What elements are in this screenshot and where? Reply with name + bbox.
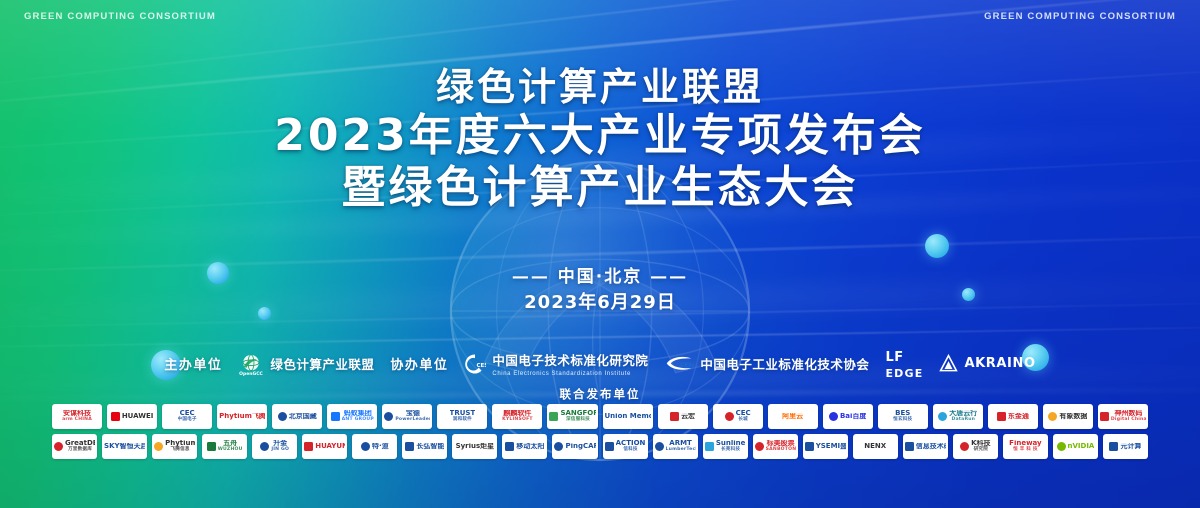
sponsor-logo-name: 东金通 [1008, 413, 1029, 420]
sponsor-logo-mark-icon [960, 442, 969, 451]
sponsor-logo-name: Phytium飞腾 [219, 413, 265, 420]
sponsor-logo-subtitle: JIN GO [271, 448, 289, 453]
co-organizer-label: 协办单位 [390, 354, 448, 373]
sponsor-logo-subtitle: PowerLeader [395, 418, 430, 423]
sponsor-logo-inner: Union Memory [605, 413, 651, 420]
sponsor-logo-mark-icon [111, 412, 120, 421]
sponsor-logo-name: 云宏 [681, 413, 695, 420]
sponsor-logo[interactable]: 蚂蚁集团ANT GROUP [327, 404, 377, 429]
sponsor-logo-mark-icon [331, 412, 340, 421]
sponsor-logo-inner: NENX [864, 443, 886, 450]
sponsor-logo-inner: 特·道 [361, 442, 389, 451]
sponsor-logo-mark-icon [805, 442, 814, 451]
sponsor-logo-name: NENX [864, 443, 886, 450]
sponsor-logo[interactable]: HUAWEI [107, 404, 157, 429]
sponsor-logo-inner: 信息技术研究院 [905, 442, 946, 451]
sponsor-logo[interactable]: Union Memory [603, 404, 653, 429]
sponsor-logo-name: 北京国藏 [289, 413, 317, 420]
sponsor-logo[interactable]: 麒麟软件KYLINSOFT [492, 404, 542, 429]
sponsor-logo-inner: 麒麟软件KYLINSOFT [502, 410, 533, 422]
akraino-wordmark: AKRAINO [964, 356, 1035, 371]
sponsor-logo-mark-icon [1048, 412, 1057, 421]
sponsor-logo-mark-icon [829, 412, 838, 421]
sponsor-logo-inner: 五舟WUZHOU [207, 440, 243, 452]
sponsor-logo[interactable]: 云宏 [658, 404, 708, 429]
sponsor-logo-name: K科技研究院 [971, 440, 990, 452]
sponsor-logo-name: ARMTLumberTech [666, 440, 696, 452]
sponsor-logo-inner: Bai百度 [829, 412, 866, 421]
sponsor-logo-subtitle: 长城 [736, 418, 751, 423]
sponsor-logo[interactable]: SKY智恒天启 [102, 434, 147, 459]
sponsor-logo-inner: Syrius炬星 [456, 443, 495, 450]
sponsor-logo-inner: 有象数据 [1048, 412, 1087, 421]
sponsor-logo-name: 五舟WUZHOU [218, 440, 243, 452]
sponsor-logo-inner: GreatDB万里数据库 [54, 440, 95, 452]
sponsor-logo-inner: 神州数码Digital China [1100, 410, 1146, 422]
partner-lf-edge: LF EDGE [885, 348, 923, 380]
sponsor-logo-name: 信息技术研究院 [916, 443, 946, 450]
sponsor-logo[interactable]: Syrius炬星 [452, 434, 497, 459]
co-org-cesi: CESI 中国电子技术标准化研究院 China Electronics Stan… [464, 350, 648, 377]
akraino-triangle-icon [939, 354, 958, 373]
sponsor-logo-name: CEC中国电子 [178, 410, 197, 422]
sponsor-logo[interactable]: 元计算 [1103, 434, 1148, 459]
svg-text:CESI: CESI [477, 363, 487, 369]
opengcc-globe-icon: OpenGCC [238, 351, 264, 377]
sponsor-logo-subtitle: arm CHINA [62, 418, 92, 423]
lf-edge-line-1: LF [885, 350, 903, 365]
sponsor-logo-subtitle: 飞腾信息 [165, 448, 195, 453]
sponsor-logo-mark-icon [1057, 442, 1066, 451]
event-date: 2023年6月29日 [0, 288, 1200, 314]
conference-banner: GREEN COMPUTING CONSORTIUM GREEN COMPUTI… [0, 0, 1200, 508]
sponsor-logo-inner: Phytium飞腾 [219, 413, 265, 420]
sponsor-logo[interactable]: TRUST润和软件 [437, 404, 487, 429]
sponsor-logo[interactable]: 标美股票SANBOTONG [753, 434, 798, 459]
sponsor-logo-name: 元计算 [1120, 443, 1141, 450]
sponsor-logo-name: nVIDIA [1068, 443, 1095, 450]
sponsor-logo-row-1: 安谋科技arm CHINAHUAWEICEC中国电子Phytium飞腾北京国藏蚂… [0, 404, 1200, 429]
sponsor-logo-name: CEC长城 [736, 410, 751, 422]
sponsor-logo-subtitle: LumberTech [666, 448, 696, 453]
sponsor-logo-name: 特·道 [372, 443, 389, 450]
sponsor-logo-inner: ACTION信科技 [605, 440, 646, 452]
host-label: 主办单位 [164, 354, 222, 373]
sponsor-logo-name: 长弘智能 [416, 443, 444, 450]
sponsor-logo[interactable]: K科技研究院 [953, 434, 998, 459]
cesi-icon: CESI [464, 353, 486, 375]
sponsor-logo[interactable]: SANGFOR深信服科技 [547, 404, 597, 429]
sponsor-logo[interactable]: ARMTLumberTech [653, 434, 698, 459]
joint-release-label: 联合发布单位 [0, 386, 1200, 402]
sponsor-logo-subtitle: 润和软件 [450, 418, 476, 423]
sponsor-logo-name: 移动太阳 [516, 443, 544, 450]
sponsor-logo-name: SKY智恒天启 [104, 443, 145, 450]
sponsor-logo-inner: 元计算 [1109, 442, 1141, 451]
sponsor-logo-inner: 宝德PowerLeader [384, 410, 430, 422]
sponsor-logo-inner: 长弘智能 [405, 442, 444, 451]
sponsor-logo-row-2: GreatDB万里数据库SKY智恒天启PhytiumTech飞腾信息五舟WUZH… [0, 434, 1200, 459]
sponsor-logo-subtitle: KYLINSOFT [502, 418, 533, 423]
sponsor-logo-mark-icon [260, 442, 269, 451]
sponsor-logo[interactable]: YSEMI盛芯 [803, 434, 848, 459]
sponsor-logo[interactable]: CEC中国电子 [162, 404, 212, 429]
sponsor-logo-name: 蚂蚁集团ANT GROUP [342, 410, 374, 422]
sponsor-logo[interactable]: 阿里云 [768, 404, 818, 429]
sponsor-logo[interactable]: 有象数据 [1043, 404, 1093, 429]
sponsor-logo-name: 麒麟软件KYLINSOFT [502, 410, 533, 422]
sponsor-logo-inner: HUAYUN华云 [304, 442, 345, 451]
sponsor-logo[interactable]: 安谋科技arm CHINA [52, 404, 102, 429]
sponsor-logo-mark-icon [278, 412, 287, 421]
sponsor-logo[interactable]: NENX [853, 434, 898, 459]
sponsor-logo-inner: ARMTLumberTech [655, 440, 696, 452]
sponsor-logo-mark-icon [405, 442, 414, 451]
sponsor-logo-name: Union Memory [605, 413, 651, 420]
sponsor-logo-subtitle: WUZHOU [218, 448, 243, 453]
title-line-2: 2023年度六大产业专项发布会 [0, 111, 1200, 161]
sponsor-logo-subtitle: 信科技 [616, 448, 646, 453]
sponsor-logo[interactable]: HUAYUN华云 [302, 434, 347, 459]
sponsor-logo-subtitle: Digital China [1111, 418, 1146, 423]
sponsor-logo-inner: 东金通 [997, 412, 1029, 421]
sponsor-logo[interactable]: PhytiumTech飞腾信息 [152, 434, 197, 459]
sponsor-logo[interactable]: GreatDB万里数据库 [52, 434, 97, 459]
sponsor-logo-mark-icon [905, 442, 914, 451]
sponsor-logo-name: Syrius炬星 [456, 443, 495, 450]
sponsor-logo-mark-icon [605, 442, 614, 451]
sponsor-logo-mark-icon [154, 442, 163, 451]
sponsor-logo-inner: 安谋科技arm CHINA [62, 410, 92, 422]
sponsor-logo[interactable]: Bai百度 [823, 404, 873, 429]
host-name: 绿色计算产业联盟 [270, 354, 374, 373]
sponsor-logo-name: SANGFOR深信服科技 [560, 410, 595, 422]
sponsor-logo-inner: 升金JIN GO [260, 440, 289, 452]
sponsor-logo-subtitle: 中国电子 [178, 418, 197, 423]
sponsor-logo-mark-icon [54, 442, 63, 451]
sponsor-logo-name: 标美股票SANBOTONG [766, 440, 796, 452]
sponsor-logo-inner: Sunline长亮科技 [705, 440, 746, 452]
sponsor-logo[interactable]: Sunline长亮科技 [703, 434, 748, 459]
sponsor-logo[interactable]: Phytium飞腾 [217, 404, 267, 429]
sponsor-logo-inner: HUAWEI [111, 412, 154, 421]
sponsor-logo-name: Bai百度 [840, 413, 866, 420]
cesi-name-cn: 中国电子技术标准化研究院 [492, 353, 648, 368]
lf-edge-line-2: EDGE [885, 367, 923, 380]
sponsor-logo-mark-icon [1100, 412, 1109, 421]
sponsor-logo-mark-icon [938, 412, 947, 421]
sponsor-logo-inner: 标美股票SANBOTONG [755, 440, 796, 452]
co-org-cesa: CESA 中国电子工业标准化技术协会 [664, 354, 869, 374]
sponsor-logo-name: BES恒玄科技 [893, 410, 912, 422]
sponsor-logo-subtitle: 万里数据库 [65, 448, 95, 453]
sponsor-logo-name: ACTION信科技 [616, 440, 646, 452]
sponsor-logo-inner: SKY智恒天启 [104, 443, 145, 450]
sponsor-logo-mark-icon [549, 412, 558, 421]
sponsor-logo-subtitle: 研究院 [971, 448, 990, 453]
sponsor-logo-name: GreatDB万里数据库 [65, 440, 95, 452]
sponsor-logo-mark-icon [997, 412, 1006, 421]
sponsor-logo-name: YSEMI盛芯 [816, 443, 846, 450]
sponsor-logo-inner: TRUST润和软件 [450, 410, 476, 422]
sponsor-logo[interactable]: 特·道 [352, 434, 397, 459]
sponsor-logo-name: HUAWEI [122, 413, 154, 420]
sponsor-logo[interactable]: PingCAP [552, 434, 597, 459]
sponsor-logo[interactable]: Fineway恒 丰 科 技 [1003, 434, 1048, 459]
sponsor-logo-name: Fineway恒 丰 科 技 [1009, 440, 1041, 452]
sponsor-logo[interactable]: 东金通 [988, 404, 1038, 429]
sponsor-logo-name: 宝德PowerLeader [395, 410, 430, 422]
sponsor-logo-inner: SANGFOR深信服科技 [549, 410, 595, 422]
sponsor-logo[interactable]: 神州数码Digital China [1098, 404, 1148, 429]
sponsor-logo-subtitle: 恒玄科技 [893, 418, 912, 423]
sponsor-logo[interactable]: ACTION信科技 [603, 434, 648, 459]
sponsor-logo-inner: Fineway恒 丰 科 技 [1009, 440, 1041, 452]
sponsor-logo-name: Sunline长亮科技 [716, 440, 746, 452]
sponsor-logo-mark-icon [361, 442, 370, 451]
organizers-row: 主办单位 OpenGCC 绿色计算产业联盟 协办单位 CESI [0, 348, 1200, 380]
sponsor-logo-inner: 移动太阳 [505, 442, 544, 451]
sponsor-logo-inner: BES恒玄科技 [893, 410, 912, 422]
partner-akraino: AKRAINO [939, 354, 1035, 373]
sponsor-logo-mark-icon [207, 442, 216, 451]
svg-text:CESA: CESA [681, 363, 695, 369]
lf-edge-wordmark: LF EDGE [885, 348, 923, 380]
sponsor-logo-name: TRUST润和软件 [450, 410, 476, 422]
sponsor-logo-mark-icon [554, 442, 563, 451]
host-org: OpenGCC 绿色计算产业联盟 [238, 351, 374, 377]
sponsor-logo-name: PingCAP [565, 443, 595, 450]
sponsor-logo[interactable]: 北京国藏 [272, 404, 322, 429]
sponsor-logo-mark-icon [705, 442, 714, 451]
sponsor-logo-inner: CEC中国电子 [178, 410, 197, 422]
sponsor-logo-inner: K科技研究院 [960, 440, 990, 452]
cesi-name-en: China Electronics Standardization Instit… [492, 371, 648, 377]
sponsor-logo-inner: 蚂蚁集团ANT GROUP [331, 410, 374, 422]
sponsor-logo-name: PhytiumTech飞腾信息 [165, 440, 195, 452]
sponsor-logo-subtitle: ANT GROUP [342, 418, 374, 423]
cesi-text: 中国电子技术标准化研究院 China Electronics Standardi… [492, 350, 648, 377]
sponsor-logo-mark-icon [725, 412, 734, 421]
title-line-1: 绿色计算产业联盟 [0, 66, 1200, 109]
sponsor-logo-mark-icon [1109, 442, 1118, 451]
sponsor-logo-name: 有象数据 [1059, 413, 1087, 420]
sponsor-logo-subtitle: SANBOTONG [766, 448, 796, 453]
sponsor-logo-name: HUAYUN华云 [315, 443, 345, 450]
sponsor-logo[interactable]: 宝德PowerLeader [382, 404, 432, 429]
sponsor-logo-subtitle: 深信服科技 [560, 418, 595, 423]
sponsor-logo[interactable]: nVIDIA [1053, 434, 1098, 459]
sponsor-logo-inner: PhytiumTech飞腾信息 [154, 440, 195, 452]
sponsor-logo-mark-icon [655, 442, 664, 451]
sponsor-logo-inner: nVIDIA [1057, 442, 1095, 451]
title-line-3: 暨绿色计算产业生态大会 [0, 163, 1200, 213]
corner-label-right: GREEN COMPUTING CONSORTIUM [984, 11, 1176, 22]
sponsor-logo[interactable]: 大唐云行DataRun [933, 404, 983, 429]
sponsor-logo-mark-icon [384, 412, 393, 421]
svg-text:OpenGCC: OpenGCC [239, 371, 263, 377]
sponsor-logo[interactable]: 五舟WUZHOU [202, 434, 247, 459]
sponsor-logo[interactable]: CEC长城 [713, 404, 763, 429]
sponsor-logo[interactable]: BES恒玄科技 [878, 404, 928, 429]
sponsor-logo-name: 神州数码Digital China [1111, 410, 1146, 422]
sponsor-logo-name: 阿里云 [782, 413, 803, 420]
sponsor-logo-inner: 大唐云行DataRun [938, 410, 977, 422]
corner-label-left: GREEN COMPUTING CONSORTIUM [24, 11, 216, 22]
cesa-icon: CESA [664, 354, 694, 374]
sponsor-logo-name: 大唐云行DataRun [949, 410, 977, 422]
sponsor-logo-grid: 安谋科技arm CHINAHUAWEICEC中国电子Phytium飞腾北京国藏蚂… [0, 404, 1200, 464]
sponsor-logo-subtitle: DataRun [949, 418, 977, 423]
sponsor-logo[interactable]: 移动太阳 [502, 434, 547, 459]
decor-bubble [925, 234, 949, 258]
sponsor-logo-mark-icon [670, 412, 679, 421]
sponsor-logo[interactable]: 长弘智能 [402, 434, 447, 459]
title-block: 绿色计算产业联盟 2023年度六大产业专项发布会 暨绿色计算产业生态大会 [0, 66, 1200, 214]
sponsor-logo-inner: 北京国藏 [278, 412, 317, 421]
sponsor-logo-mark-icon [755, 442, 764, 451]
sponsor-logo-inner: CEC长城 [725, 410, 751, 422]
event-location: —— 中国·北京 —— [0, 262, 1200, 287]
sponsor-logo-name: 安谋科技arm CHINA [62, 410, 92, 422]
sponsor-logo-inner: YSEMI盛芯 [805, 442, 846, 451]
sponsor-logo-name: 升金JIN GO [271, 440, 289, 452]
sponsor-logo-subtitle: 恒 丰 科 技 [1009, 448, 1041, 453]
sponsor-logo-subtitle: 长亮科技 [716, 448, 746, 453]
sponsor-logo-mark-icon [304, 442, 313, 451]
sponsor-logo-mark-icon [505, 442, 514, 451]
light-streak [0, 324, 1200, 351]
sponsor-logo-inner: PingCAP [554, 442, 595, 451]
sponsor-logo[interactable]: 信息技术研究院 [903, 434, 948, 459]
cesa-name-cn: 中国电子工业标准化技术协会 [700, 354, 869, 373]
sponsor-logo-inner: 云宏 [670, 412, 695, 421]
sponsor-logo[interactable]: 升金JIN GO [252, 434, 297, 459]
sponsor-logo-inner: 阿里云 [782, 413, 803, 420]
